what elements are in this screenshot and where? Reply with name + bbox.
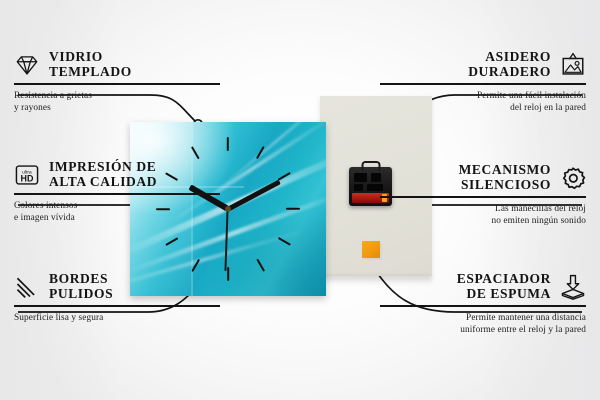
feature-desc-line2: y rayones: [14, 102, 220, 115]
feature-desc-line2: uniforme entre el reloj y la pared: [380, 324, 586, 337]
feature-divider: [14, 83, 220, 85]
feature-desc-line2: e imagen vívida: [14, 212, 220, 225]
polished-edges-icon: [14, 274, 40, 300]
clock-tick: [227, 267, 229, 281]
infographic-canvas: VIDRIO TEMPLADO Resistencia a grietas y …: [0, 0, 600, 400]
foam-spacer: [362, 241, 380, 258]
feature-desc-line1: Colores intensos: [14, 200, 220, 213]
mechanism-hanger-icon: [361, 161, 380, 171]
feature-mecanismo-silencioso: MECANISMO SILENCIOSO Las manecillas del …: [380, 163, 586, 228]
feature-divider: [380, 196, 586, 198]
feature-desc-line1: Permite mantener una distancia: [380, 312, 586, 325]
feature-asidero-duradero: ASIDERO DURADERO Permite una fácil insta…: [380, 50, 586, 115]
feature-title-line1: ESPACIADOR: [457, 272, 551, 287]
feature-title-line1: BORDES: [49, 272, 113, 287]
feature-desc-line2: del reloj en la pared: [380, 102, 586, 115]
feature-impresion-alta-calidad: ultra HD IMPRESIÓN DE ALTA CALIDAD Color…: [14, 160, 220, 225]
feature-vidrio-templado: VIDRIO TEMPLADO Resistencia a grietas y …: [14, 50, 220, 115]
feature-description: Colores intensos e imagen vívida: [14, 200, 220, 225]
feature-description: Permite una fácil instalación del reloj …: [380, 90, 586, 115]
feature-divider: [14, 305, 220, 307]
feature-title-line2: TEMPLADO: [49, 65, 132, 80]
feature-title-line1: MECANISMO: [459, 163, 551, 178]
feature-desc-line1: Superficie lisa y segura: [14, 312, 220, 325]
feature-title-line2: SILENCIOSO: [461, 178, 551, 193]
diamond-icon: [14, 52, 40, 78]
feature-desc-line1: Permite una fácil instalación: [380, 90, 586, 103]
mechanism-detail: [354, 184, 363, 191]
ultra-hd-icon-bottom: HD: [21, 173, 34, 183]
feature-description: Superficie lisa y segura: [14, 312, 220, 325]
mechanism-detail: [354, 173, 367, 182]
feature-title-line1: VIDRIO: [49, 50, 132, 65]
feature-desc-line2: no emiten ningún sonido: [380, 215, 586, 228]
feature-divider: [14, 193, 220, 195]
feature-espaciador-de-espuma: ESPACIADOR DE ESPUMA Permite mantener un…: [380, 272, 586, 337]
picture-hanger-icon: [560, 52, 586, 78]
feature-description: Resistencia a grietas y rayones: [14, 90, 220, 115]
feature-title-line1: IMPRESIÓN DE: [49, 160, 157, 175]
gear-icon: [560, 165, 586, 191]
feature-desc-line1: Resistencia a grietas: [14, 90, 220, 103]
ultra-hd-icon: ultra HD: [14, 162, 40, 188]
feature-bordes-pulidos: BORDES PULIDOS Superficie lisa y segura: [14, 272, 220, 324]
feature-description: Las manecillas del reloj no emiten ningú…: [380, 203, 586, 228]
foam-spacer-icon: [560, 274, 586, 300]
feature-title-line1: ASIDERO: [485, 50, 551, 65]
clock-center-hub: [225, 206, 231, 212]
feature-desc-line1: Las manecillas del reloj: [380, 203, 586, 216]
feature-description: Permite mantener una distancia uniforme …: [380, 312, 586, 337]
feature-divider: [380, 305, 586, 307]
feature-divider: [380, 83, 586, 85]
feature-title-line2: PULIDOS: [49, 287, 113, 302]
feature-title-line2: ALTA CALIDAD: [49, 175, 157, 190]
feature-title-line2: DURADERO: [468, 65, 551, 80]
feature-title-line2: DE ESPUMA: [466, 287, 551, 302]
